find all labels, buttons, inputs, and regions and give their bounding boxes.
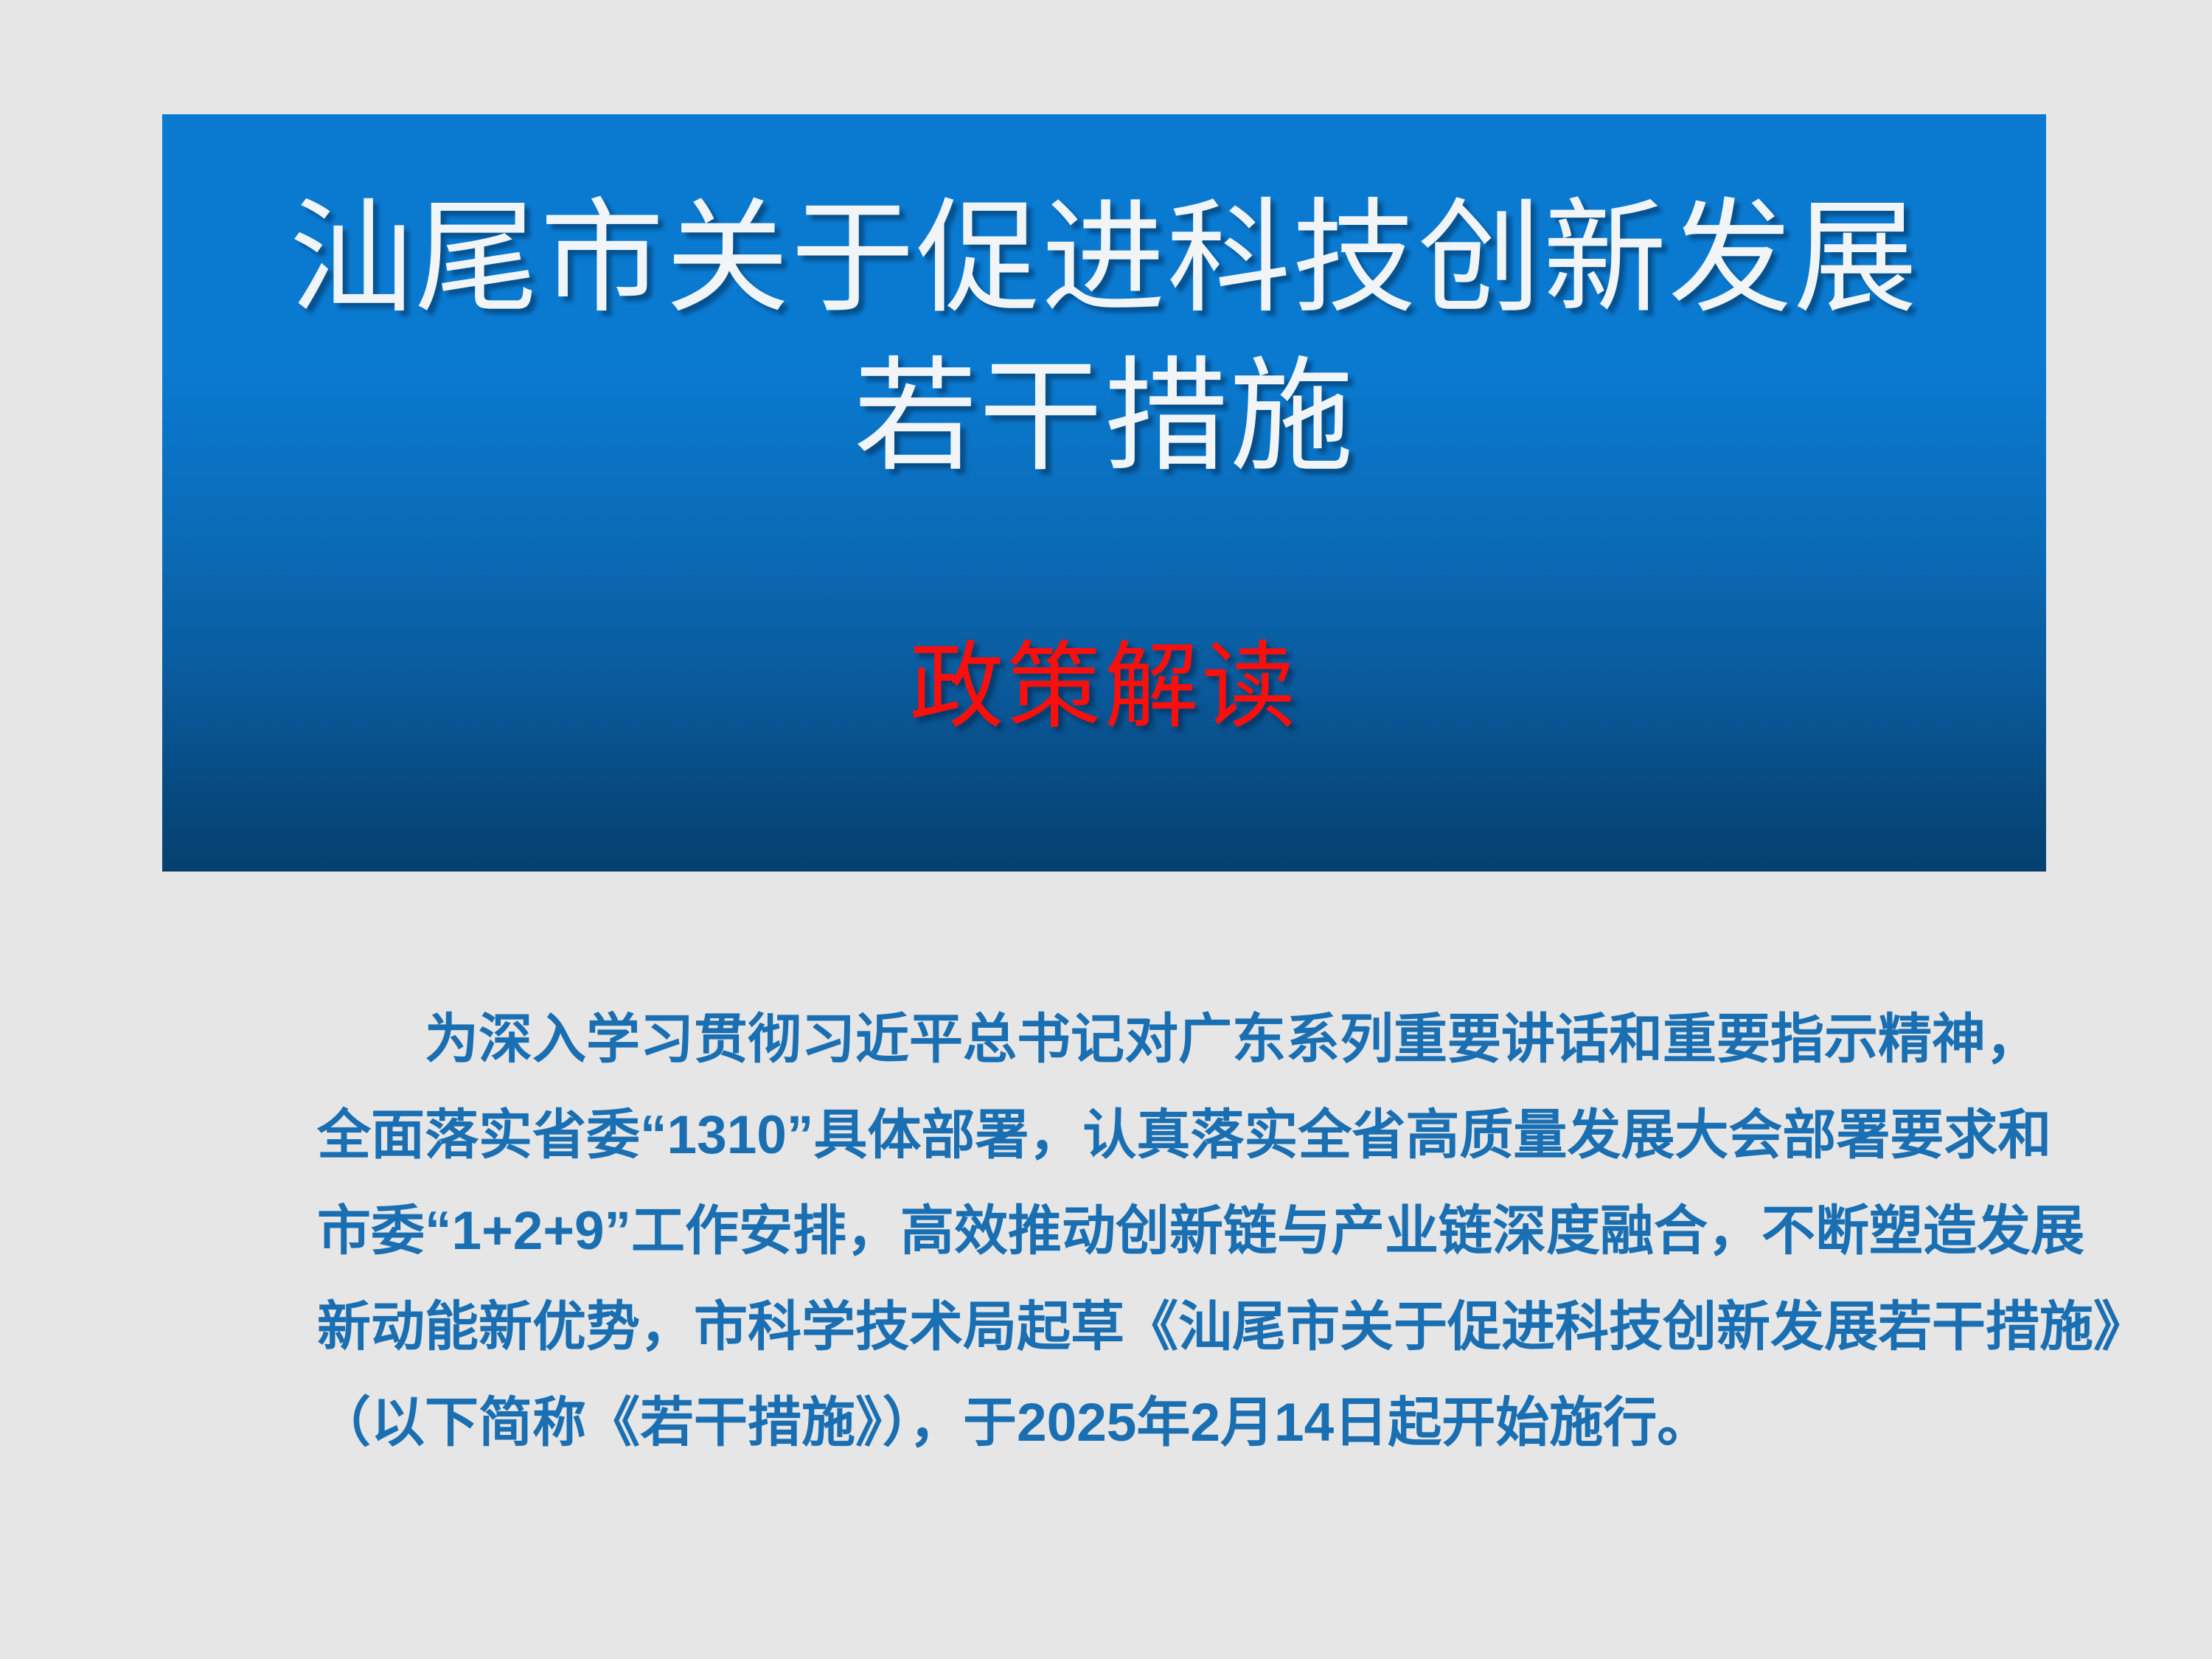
body-line-1: 为深入学习贯彻习近平总书记对广东系列重要讲话和重要指示精神， [317, 992, 2035, 1088]
body-line-5: （以下简称《若干措施》），于2025年2月14日起开始施行。 [317, 1375, 2035, 1471]
page-title-line-1: 汕尾市关于促进科技创新发展 [162, 181, 2046, 339]
page-title: 汕尾市关于促进科技创新发展 若干措施 [162, 181, 2046, 498]
body-paragraph: 为深入学习贯彻习近平总书记对广东系列重要讲话和重要指示精神， 全面落实省委“13… [317, 992, 2035, 1471]
page-subtitle: 政策解读 [162, 630, 2046, 744]
body-line-4: 新动能新优势，市科学技术局起草《汕尾市关于促进科技创新发展若干措施》 [317, 1279, 2035, 1375]
body-line-2: 全面落实省委“1310”具体部署，认真落实全省高质量发展大会部署要求和 [317, 1088, 2035, 1183]
page-title-line-2: 若干措施 [162, 339, 2046, 498]
body-line-1-text: 为深入学习贯彻习近平总书记对广东系列重要讲话和重要指示精神， [425, 1009, 2039, 1069]
body-line-3: 市委“1+2+9”工作安排，高效推动创新链与产业链深度融合，不断塑造发展 [317, 1183, 2035, 1279]
title-banner: 汕尾市关于促进科技创新发展 若干措施 政策解读 [162, 114, 2046, 872]
